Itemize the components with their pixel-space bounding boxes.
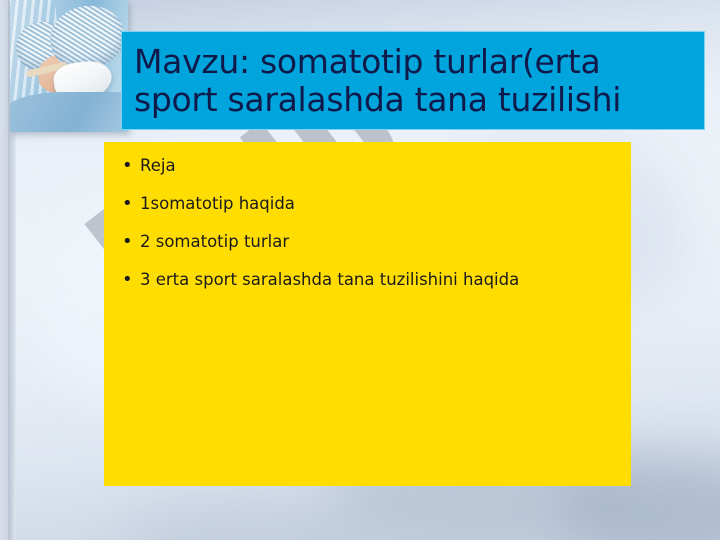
list-item: 3 erta sport saralashda tana tuzilishini… (118, 270, 613, 290)
medical-staff-photo (10, 0, 128, 132)
slide-title: Mavzu: somatotip turlar(erta sport saral… (134, 43, 621, 118)
background-blob (120, 495, 400, 540)
left-edge-gradient (0, 0, 8, 540)
list-item: Reja (118, 156, 613, 176)
slide-title-box: Mavzu: somatotip turlar(erta sport saral… (121, 31, 705, 130)
presentation-slide: Hujjat 2 Mavzu: somatotip turlar(erta sp… (0, 0, 720, 540)
scrubs-shoulder (10, 92, 128, 132)
bullet-list: Reja 1somatotip haqida 2 somatotip turla… (118, 156, 613, 291)
list-item: 2 somatotip turlar (118, 232, 613, 252)
list-item: 1somatotip haqida (118, 194, 613, 214)
slide-content-box: Reja 1somatotip haqida 2 somatotip turla… (104, 142, 631, 486)
